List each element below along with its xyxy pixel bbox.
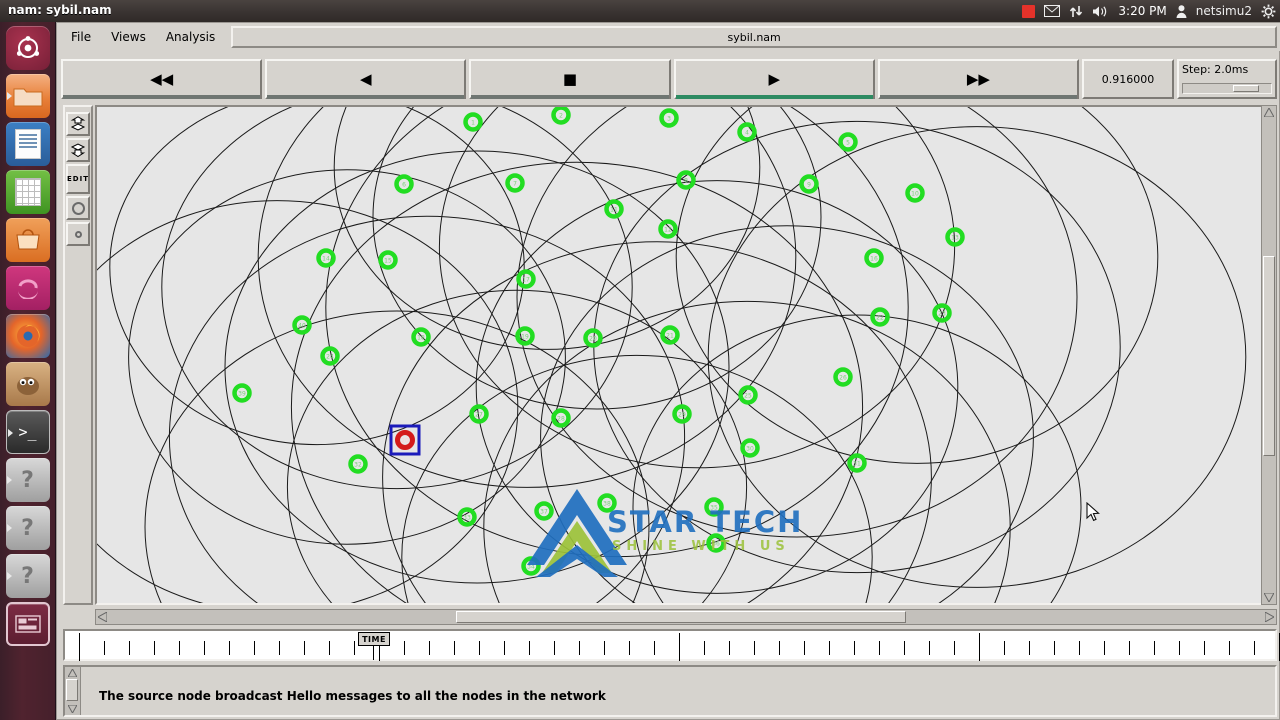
- network-node[interactable]: 16: [867, 251, 882, 266]
- timeline-minor-tick: [704, 641, 705, 655]
- network-node[interactable]: 11: [607, 202, 622, 217]
- timeline-minor-tick: [854, 641, 855, 655]
- node-label: 26: [839, 374, 847, 381]
- terminal-prompt-glyph: >_: [18, 423, 36, 441]
- network-node[interactable]: 12: [661, 222, 676, 237]
- range-ring: [169, 216, 684, 603]
- timeline-minor-tick: [729, 641, 730, 655]
- node-label: 2: [559, 112, 563, 119]
- launcher-item-unknown-app-1[interactable]: ?: [6, 458, 50, 502]
- play-icon: ▶: [768, 70, 780, 88]
- playback-toolbar: ◀◀ ◀ ■ ▶ ▶▶ 0.916000 Step: 2.0ms: [61, 59, 1277, 99]
- canvas-horizontal-scrollbar[interactable]: [95, 609, 1277, 625]
- timeline-minor-tick: [1029, 641, 1030, 655]
- step-back-icon: ◀: [360, 70, 372, 88]
- network-node[interactable]: 2: [554, 108, 569, 123]
- timeline-minor-tick: [1004, 641, 1005, 655]
- gear-icon[interactable]: [1261, 4, 1276, 19]
- stop-icon: ■: [563, 70, 577, 88]
- node-label: 5: [846, 139, 850, 146]
- node-label: 22: [876, 314, 884, 321]
- network-node[interactable]: 36: [709, 536, 724, 551]
- range-ring: [541, 226, 1034, 603]
- small-node-button[interactable]: [66, 222, 90, 246]
- network-node[interactable]: 14: [319, 251, 334, 266]
- network-animation-canvas[interactable]: 1234567891011121314151617181920212223242…: [95, 105, 1277, 605]
- play-button[interactable]: ▶: [674, 59, 875, 99]
- unity-launcher: >_ ? ? ?: [0, 22, 56, 720]
- timeline-minor-tick: [904, 641, 905, 655]
- network-topology-svg: 1234567891011121314151617181920212223242…: [97, 107, 1275, 603]
- node-label: 14: [322, 255, 330, 262]
- network-node[interactable]: 32: [351, 457, 366, 472]
- step-size-control[interactable]: Step: 2.0ms: [1177, 59, 1277, 99]
- network-node[interactable]: 4: [740, 125, 755, 140]
- network-node[interactable]: 18: [414, 330, 429, 345]
- network-node[interactable]: 30: [743, 441, 758, 456]
- timeline-minor-tick: [204, 641, 205, 655]
- timeline-minor-tick: [1204, 641, 1205, 655]
- node-label: 24: [326, 353, 334, 360]
- horizontal-scrollbar-thumb[interactable]: [456, 611, 906, 623]
- annotation-scroll-down-icon: [68, 705, 77, 713]
- timeline-minor-tick: [529, 641, 530, 655]
- edit-label: EDIT: [67, 175, 89, 183]
- range-ring: [708, 127, 1246, 588]
- scroll-left-arrow-icon: [98, 612, 107, 622]
- timeline-minor-tick: [1154, 641, 1155, 655]
- node-label: 19: [521, 333, 529, 340]
- timeline-minor-tick: [504, 641, 505, 655]
- timeline-minor-tick: [404, 641, 405, 655]
- timeline-minor-tick: [354, 641, 355, 655]
- network-node[interactable]: 29: [675, 407, 690, 422]
- timeline-minor-tick: [454, 641, 455, 655]
- node-label: 6: [402, 181, 406, 188]
- network-node[interactable]: 5: [841, 135, 856, 150]
- network-node[interactable]: 10: [908, 186, 923, 201]
- launcher-item-files[interactable]: [6, 74, 50, 118]
- step-size-slider-thumb[interactable]: [1233, 85, 1259, 92]
- launcher-item-terminal[interactable]: >_: [6, 410, 50, 454]
- network-node[interactable]: 35: [707, 500, 722, 515]
- node-label: 40: [298, 322, 306, 329]
- scroll-down-arrow-icon: [1264, 593, 1274, 602]
- node-label: 16: [870, 255, 878, 262]
- network-node[interactable]: 28: [554, 411, 569, 426]
- timeline-minor-tick: [804, 641, 805, 655]
- network-node[interactable]: 7: [508, 176, 523, 191]
- range-ring: [594, 121, 1120, 572]
- timeline-minor-tick: [654, 641, 655, 655]
- node-label: 12: [664, 226, 672, 233]
- network-node[interactable]: 15: [381, 253, 396, 268]
- launcher-item-unknown-app-3[interactable]: ?: [6, 554, 50, 598]
- network-node[interactable]: 26: [836, 370, 851, 385]
- step-size-label: Step: 2.0ms: [1182, 63, 1248, 76]
- node-label: 10: [911, 190, 919, 197]
- node-label: 18: [417, 334, 425, 341]
- system-tray: 3:20 PM netsimu2: [1022, 0, 1276, 22]
- large-node-button[interactable]: [66, 196, 90, 220]
- trace-file-label: sybil.nam: [231, 26, 1277, 48]
- node-label: 33: [463, 514, 471, 521]
- annotation-message: The source node broadcast Hello messages…: [81, 667, 1275, 715]
- node-label: 13: [951, 234, 959, 241]
- rewind-icon: ◀◀: [150, 70, 173, 88]
- node-label: 30: [746, 445, 754, 452]
- step-back-progress: [267, 95, 464, 99]
- node-label: 7: [513, 180, 517, 187]
- node-label: 31: [853, 460, 861, 467]
- launcher-item-libreoffice-calc[interactable]: [6, 170, 50, 214]
- clock[interactable]: 3:20 PM: [1118, 0, 1166, 22]
- box-arrow-down-icon: [69, 142, 87, 158]
- stop-button[interactable]: ■: [469, 59, 670, 99]
- zoom-out-button[interactable]: [66, 138, 90, 162]
- canvas-vertical-scrollbar[interactable]: [1261, 105, 1277, 605]
- window-title: nam: sybil.nam: [8, 3, 112, 17]
- zoom-in-button[interactable]: [66, 112, 90, 136]
- speaker-icon[interactable]: [1092, 5, 1109, 18]
- node-label: 28: [557, 415, 565, 422]
- timeline-minor-tick: [279, 641, 280, 655]
- timeline-minor-tick: [579, 641, 580, 655]
- fast-forward-button[interactable]: ▶▶: [878, 59, 1079, 99]
- network-node[interactable]: 23: [935, 306, 950, 321]
- node-label: 9: [807, 181, 811, 188]
- timeline-minor-tick: [779, 641, 780, 655]
- network-node[interactable]: 21: [663, 328, 678, 343]
- network-node[interactable]: 31: [850, 456, 865, 471]
- step-back-button[interactable]: ◀: [265, 59, 466, 99]
- timeline-minor-tick: [1054, 641, 1055, 655]
- timeline-minor-tick: [879, 641, 880, 655]
- timeline-minor-tick: [754, 641, 755, 655]
- edit-button[interactable]: EDIT: [66, 164, 90, 194]
- menu-analysis[interactable]: Analysis: [156, 27, 225, 47]
- range-ring: [97, 201, 518, 603]
- launcher-item-software-center[interactable]: [6, 218, 50, 262]
- timeline-minor-tick: [604, 641, 605, 655]
- launcher-item-amazon[interactable]: [6, 266, 50, 310]
- timeline-minor-tick: [929, 641, 930, 655]
- small-circle-icon: [75, 231, 82, 238]
- network-node[interactable]: 9: [802, 177, 817, 192]
- network-node[interactable]: 1: [466, 115, 481, 130]
- ubuntu-top-panel: nam: sybil.nam 3:20 PM netsimu2: [0, 0, 1280, 22]
- network-node[interactable]: 8: [679, 173, 694, 188]
- network-node[interactable]: 13: [948, 230, 963, 245]
- network-node[interactable]: 3: [662, 111, 677, 126]
- network-node[interactable]: 17: [519, 272, 534, 287]
- node-label: 8: [684, 177, 688, 184]
- timeline-minor-tick: [229, 641, 230, 655]
- node-label: 17: [522, 276, 530, 283]
- timeline-handle[interactable]: TIME: [358, 632, 390, 646]
- timeline-ruler[interactable]: TIME: [63, 629, 1277, 661]
- network-node[interactable]: 40: [295, 318, 310, 333]
- network-node[interactable]: 6: [397, 177, 412, 192]
- launcher-item-gimp[interactable]: [6, 362, 50, 406]
- range-ring: [110, 107, 524, 445]
- launcher-item-unknown-app-2[interactable]: ?: [6, 506, 50, 550]
- nam-application-window: File Views Analysis sybil.nam ◀◀ ◀ ■ ▶: [56, 22, 1280, 720]
- timeline-minor-tick: [1104, 641, 1105, 655]
- fast-forward-icon: ▶▶: [967, 70, 990, 88]
- network-node[interactable]: 33: [460, 510, 475, 525]
- node-label: 1: [471, 119, 475, 126]
- node-label: 34: [527, 563, 535, 570]
- nam-menubar: File Views Analysis sybil.nam: [57, 23, 1280, 51]
- large-circle-icon: [72, 202, 85, 215]
- network-node[interactable]: 25: [741, 388, 756, 403]
- timeline-minor-tick: [129, 641, 130, 655]
- timeline-minor-tick: [1079, 641, 1080, 655]
- range-ring: [676, 107, 1158, 463]
- rewind-progress: [63, 95, 260, 99]
- network-updown-icon[interactable]: [1069, 5, 1083, 18]
- launcher-item-firefox[interactable]: [6, 314, 50, 358]
- node-label: 39: [238, 390, 246, 397]
- timeline-minor-tick: [329, 641, 330, 655]
- network-node[interactable]: 20: [586, 331, 601, 346]
- rewind-button[interactable]: ◀◀: [61, 59, 262, 99]
- network-node[interactable]: 34: [524, 559, 539, 574]
- node-label: 3: [667, 115, 671, 122]
- timeline-minor-tick: [304, 641, 305, 655]
- timeline-minor-tick: [829, 641, 830, 655]
- timeline-minor-tick: [254, 641, 255, 655]
- stop-progress: [471, 95, 668, 99]
- timeline-minor-tick: [954, 641, 955, 655]
- launcher-item-libreoffice-writer[interactable]: [6, 122, 50, 166]
- simulation-time-display: 0.916000: [1082, 59, 1174, 99]
- menu-views[interactable]: Views: [101, 27, 156, 47]
- fast-forward-progress: [880, 95, 1077, 99]
- node-label: 15: [384, 257, 392, 264]
- play-progress: [676, 95, 873, 99]
- node-label: 36: [712, 540, 720, 547]
- timeline-major-tick: [979, 633, 980, 661]
- node-label: 25: [744, 392, 752, 399]
- node-label: 20: [589, 335, 597, 342]
- network-node[interactable]: 27: [472, 407, 487, 422]
- nam-tool-column: EDIT: [63, 105, 93, 605]
- node-label: 32: [354, 461, 362, 468]
- launcher-item-nam-window[interactable]: [6, 602, 50, 646]
- annotation-pane: The source node broadcast Hello messages…: [63, 665, 1277, 717]
- menu-file[interactable]: File: [61, 27, 101, 47]
- timeline-minor-tick: [629, 641, 630, 655]
- node-label: 29: [678, 411, 686, 418]
- timeline-minor-tick: [479, 641, 480, 655]
- user-name[interactable]: netsimu2: [1196, 0, 1252, 22]
- timeline-minor-tick: [554, 641, 555, 655]
- selected-node-label: 20: [401, 437, 409, 444]
- selected-source-node[interactable]: 20: [391, 426, 419, 454]
- network-node[interactable]: 39: [235, 386, 250, 401]
- scroll-right-arrow-icon: [1265, 612, 1274, 622]
- network-node[interactable]: 22: [873, 310, 888, 325]
- range-ring: [129, 170, 566, 544]
- node-label: 11: [610, 206, 618, 213]
- node-label: 35: [710, 504, 718, 511]
- range-ring: [402, 355, 872, 603]
- timeline-minor-tick: [154, 641, 155, 655]
- timeline-minor-tick: [429, 641, 430, 655]
- node-label: 37: [540, 508, 548, 515]
- node-label: 21: [666, 332, 674, 339]
- timeline-minor-tick: [179, 641, 180, 655]
- envelope-icon[interactable]: [1044, 5, 1060, 17]
- timeline-major-tick: [679, 633, 680, 661]
- scroll-up-arrow-icon: [1264, 108, 1274, 117]
- node-label: 38: [603, 500, 611, 507]
- annotation-scroll-up-icon: [68, 669, 77, 677]
- record-indicator-icon[interactable]: [1022, 5, 1035, 18]
- range-ring: [439, 107, 954, 468]
- screen: nam: sybil.nam 3:20 PM netsimu2: [0, 0, 1280, 720]
- timeline-minor-tick: [1129, 641, 1130, 655]
- launcher-item-ubuntu-dash[interactable]: [6, 26, 50, 70]
- box-arrow-up-icon: [69, 116, 87, 132]
- vertical-scrollbar-thumb[interactable]: [1263, 256, 1275, 456]
- network-node[interactable]: 19: [518, 329, 533, 344]
- network-node[interactable]: 37: [537, 504, 552, 519]
- transmission-range-rings: [97, 107, 1246, 603]
- range-ring: [383, 242, 932, 603]
- timeline-minor-tick: [1254, 641, 1255, 655]
- network-node[interactable]: 38: [600, 496, 615, 511]
- timeline-major-tick: [79, 633, 80, 661]
- step-size-slider[interactable]: [1182, 83, 1272, 94]
- range-ring: [145, 311, 649, 603]
- timeline-minor-tick: [104, 641, 105, 655]
- timeline-minor-tick: [1229, 641, 1230, 655]
- node-label: 4: [745, 129, 749, 136]
- annotation-vertical-scrollbar[interactable]: [65, 667, 81, 715]
- network-node[interactable]: 24: [323, 349, 338, 364]
- timeline-minor-tick: [1179, 641, 1180, 655]
- annotation-scrollbar-thumb[interactable]: [66, 679, 78, 701]
- node-label: 23: [938, 310, 946, 317]
- node-label: 27: [475, 411, 483, 418]
- user-avatar-icon[interactable]: [1176, 5, 1187, 18]
